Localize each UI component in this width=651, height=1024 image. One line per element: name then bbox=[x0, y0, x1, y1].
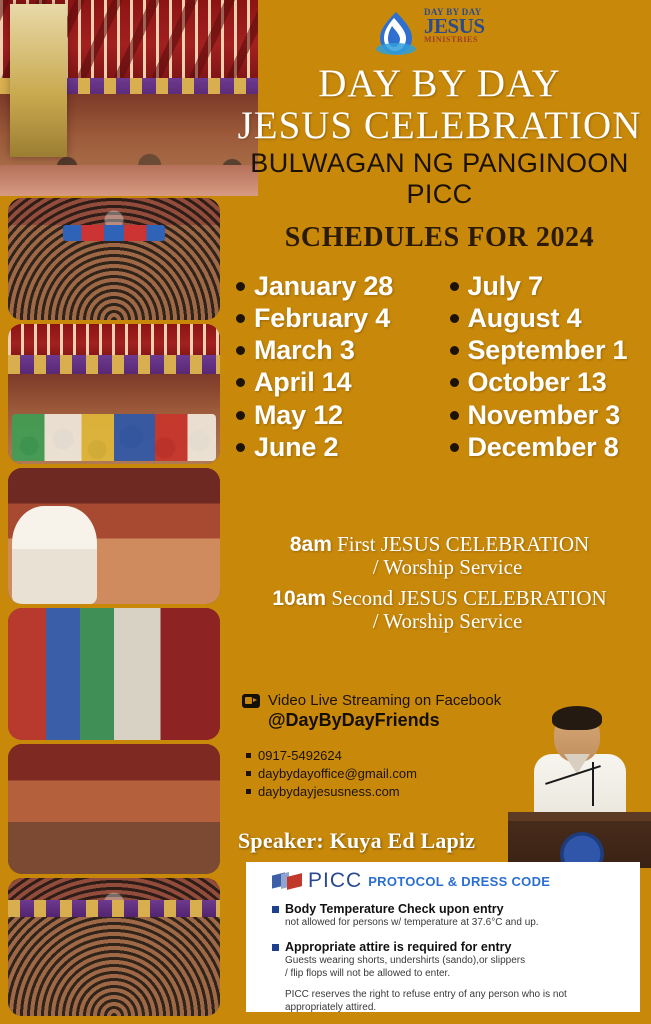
date-label: December 8 bbox=[468, 433, 619, 462]
picc-rule-1-note: not allowed for persons w/ temperature a… bbox=[272, 917, 624, 929]
picc-rule-1-title-row: Body Temperature Check upon entry bbox=[272, 902, 624, 916]
date-item: August 4 bbox=[450, 304, 651, 333]
video-camera-icon bbox=[242, 694, 260, 708]
service-time: 10am bbox=[272, 587, 326, 610]
picc-rule-1-title: Body Temperature Check upon entry bbox=[285, 902, 504, 916]
bullet-dot bbox=[450, 314, 459, 323]
bullet-dot bbox=[236, 346, 245, 355]
date-item: December 8 bbox=[450, 433, 651, 462]
bullet-square-icon bbox=[246, 753, 251, 758]
service-name: First JESUS CELEBRATION bbox=[337, 532, 589, 556]
event-poster: DAY BY DAY JESUS MINISTRIES DAY BY DAY J… bbox=[0, 0, 651, 1024]
service-times: 8am First JESUS CELEBRATION / Worship Se… bbox=[228, 533, 651, 641]
picc-rule-2-note-a: Guests wearing shorts, undershirts (sand… bbox=[272, 955, 624, 967]
content-column: DAY BY DAY JESUS MINISTRIES DAY BY DAY J… bbox=[228, 0, 651, 1024]
picc-protocol-box: PICC PROTOCOL & DRESS CODE Body Temperat… bbox=[246, 862, 640, 1012]
date-label: June 2 bbox=[254, 433, 338, 462]
bullet-dot bbox=[236, 282, 245, 291]
picc-disclaimer-b: appropriately attired. bbox=[272, 1002, 624, 1014]
bullet-dot bbox=[236, 443, 245, 452]
date-item: January 28 bbox=[236, 272, 438, 301]
ministry-logo: DAY BY DAY JESUS MINISTRIES bbox=[370, 6, 506, 60]
poster-title-line-1: DAY BY DAY bbox=[228, 62, 651, 106]
bullet-square-icon bbox=[272, 906, 279, 913]
bullet-dot bbox=[450, 443, 459, 452]
contact-website: daybydayjesusness.com bbox=[258, 784, 400, 799]
schedule-dates: January 28 February 4 March 3 April 14 M… bbox=[236, 272, 651, 462]
photo-strip bbox=[0, 0, 228, 1024]
photo-bulwagan-banner-flags bbox=[8, 324, 220, 464]
service-name: Second JESUS CELEBRATION bbox=[331, 586, 606, 610]
contact-list: 0917-5492624 daybydayoffice@gmail.com da… bbox=[246, 748, 526, 802]
bullet-dot bbox=[236, 378, 245, 387]
contact-email: daybydayoffice@gmail.com bbox=[258, 766, 417, 781]
bullet-dot bbox=[450, 411, 459, 420]
flame-dove-icon bbox=[370, 10, 422, 56]
photo-cultural-dance-performers bbox=[8, 608, 220, 740]
dates-column-left: January 28 February 4 March 3 April 14 M… bbox=[236, 272, 438, 462]
date-label: May 12 bbox=[254, 401, 343, 430]
picc-disclaimer-a: PICC reserves the right to refuse entry … bbox=[272, 989, 624, 1001]
bullet-square-icon bbox=[246, 771, 251, 776]
bullet-dot bbox=[450, 282, 459, 291]
service-row: 10am Second JESUS CELEBRATION / Worship … bbox=[228, 587, 651, 632]
service-sub: / Worship Service bbox=[228, 610, 651, 632]
picc-rule-2-note-b: / flip flops will not be allowed to ente… bbox=[272, 968, 624, 980]
dates-column-right: July 7 August 4 September 1 October 13 N… bbox=[450, 272, 651, 462]
date-label: April 14 bbox=[254, 368, 351, 397]
date-item: April 14 bbox=[236, 368, 438, 397]
contact-item-email[interactable]: daybydayoffice@gmail.com bbox=[246, 766, 526, 781]
speaker-name: Speaker: Kuya Ed Lapiz bbox=[238, 828, 475, 854]
logo-line-2: JESUS bbox=[424, 17, 506, 36]
contact-item-phone[interactable]: 0917-5492624 bbox=[246, 748, 526, 763]
date-item: July 7 bbox=[450, 272, 651, 301]
picc-rules: Body Temperature Check upon entry not al… bbox=[246, 893, 640, 1014]
poster-title-line-2: JESUS CELEBRATION bbox=[228, 104, 651, 148]
facebook-handle[interactable]: @DayByDayFriends bbox=[242, 710, 542, 731]
service-row: 8am First JESUS CELEBRATION / Worship Se… bbox=[228, 533, 651, 578]
streaming-label: Video Live Streaming on Facebook bbox=[268, 692, 501, 709]
date-item: March 3 bbox=[236, 336, 438, 365]
date-label: July 7 bbox=[468, 272, 543, 301]
photo-speaker-at-pulpit bbox=[508, 700, 651, 868]
photo-choir-singers-with-sash bbox=[8, 744, 220, 874]
service-sub: / Worship Service bbox=[228, 556, 651, 578]
bullet-dot bbox=[450, 378, 459, 387]
contact-phone: 0917-5492624 bbox=[258, 748, 342, 763]
poster-venue-subtitle: BULWAGAN NG PANGINOON PICC bbox=[228, 148, 651, 210]
photo-congregation-standing-worship bbox=[0, 0, 258, 196]
contact-item-website[interactable]: daybydayjesusness.com bbox=[246, 784, 526, 799]
bullet-dot bbox=[236, 411, 245, 420]
picc-wordmark: PICC bbox=[308, 869, 362, 893]
date-label: August 4 bbox=[468, 304, 582, 333]
photo-orchestra-violinist bbox=[8, 468, 220, 604]
date-label: March 3 bbox=[254, 336, 355, 365]
live-streaming-block: Video Live Streaming on Facebook @DayByD… bbox=[242, 692, 542, 731]
bullet-square-icon bbox=[246, 789, 251, 794]
picc-logo-icon bbox=[272, 872, 302, 890]
bullet-dot bbox=[450, 346, 459, 355]
schedule-heading: SCHEDULES FOR 2024 bbox=[228, 222, 651, 254]
date-item: September 1 bbox=[450, 336, 651, 365]
picc-header: PICC PROTOCOL & DRESS CODE bbox=[246, 862, 640, 893]
date-label: October 13 bbox=[468, 368, 607, 397]
date-label: January 28 bbox=[254, 272, 393, 301]
date-item: October 13 bbox=[450, 368, 651, 397]
photo-aerial-bulwagan-ng-panginoon bbox=[8, 878, 220, 1016]
service-time: 8am bbox=[290, 533, 332, 556]
picc-heading: PROTOCOL & DRESS CODE bbox=[368, 874, 550, 889]
date-item: November 3 bbox=[450, 401, 651, 430]
picc-rule-2-title: Appropriate attire is required for entry bbox=[285, 940, 511, 954]
logo-line-3: MINISTRIES bbox=[424, 36, 506, 44]
date-label: February 4 bbox=[254, 304, 390, 333]
date-label: September 1 bbox=[468, 336, 628, 365]
date-item: February 4 bbox=[236, 304, 438, 333]
bullet-dot bbox=[236, 314, 245, 323]
bullet-square-icon bbox=[272, 944, 279, 951]
date-label: November 3 bbox=[468, 401, 621, 430]
date-item: June 2 bbox=[236, 433, 438, 462]
date-item: May 12 bbox=[236, 401, 438, 430]
photo-aerial-crowd-hall bbox=[8, 198, 220, 320]
picc-rule-2-title-row: Appropriate attire is required for entry bbox=[272, 940, 624, 954]
